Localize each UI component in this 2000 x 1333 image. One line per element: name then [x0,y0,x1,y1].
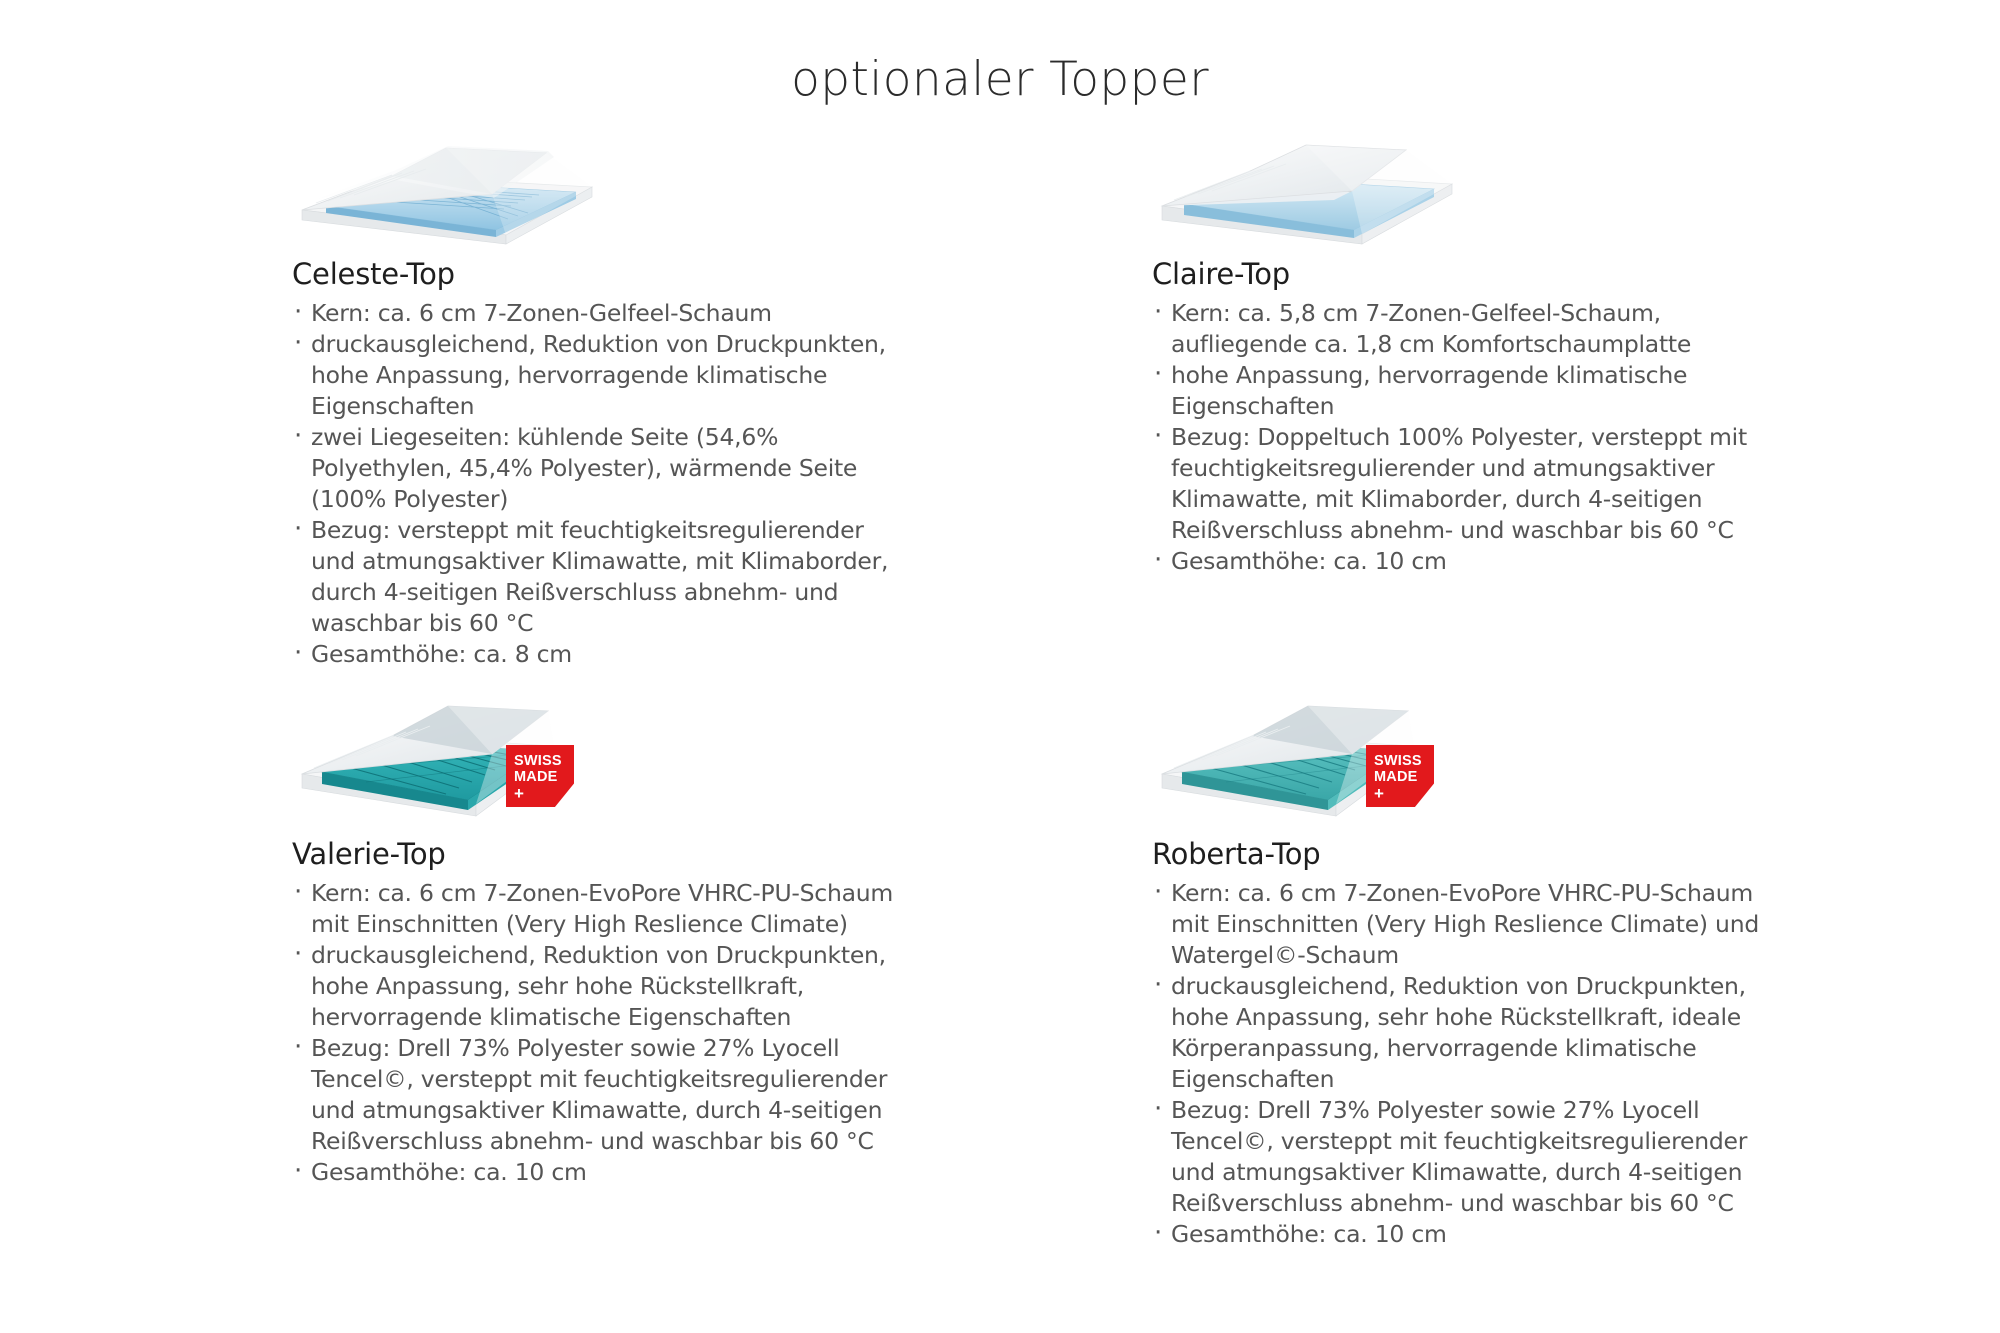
spec-item: Kern: ca. 6 cm 7-Zonen-Gelfeel-Schaum [292,298,912,329]
product-spec-list: Kern: ca. 6 cm 7-Zonen-EvoPore VHRC-PU-S… [292,878,912,1188]
swiss-badge-line1: SWISS [514,754,574,770]
product-title: Valerie-Top [292,837,912,871]
swiss-badge-line2: MADE [1374,770,1434,786]
product-title: Claire-Top [1152,257,1772,291]
spec-item: Kern: ca. 6 cm 7-Zonen-EvoPore VHRC-PU-S… [1152,878,1772,971]
product-card: Celeste-Top Kern: ca. 6 cm 7-Zonen-Gelfe… [292,140,912,670]
swiss-badge-line1: SWISS [1374,754,1434,770]
page-title: optionaler Topper [0,52,2000,107]
product-title: Roberta-Top [1152,837,1772,871]
product-image-celeste-top [296,140,596,245]
spec-item: Bezug: Drell 73% Polyester sowie 27% Lyo… [292,1033,912,1157]
spec-item: hohe Anpassung, hervorragende klimatisch… [1152,360,1772,422]
product-spec-list: Kern: ca. 6 cm 7-Zonen-EvoPore VHRC-PU-S… [1152,878,1772,1250]
product-title: Celeste-Top [292,257,912,291]
spec-item: Gesamthöhe: ca. 10 cm [292,1157,912,1188]
product-card: SWISS MADE + Valerie-Top Kern: ca. 6 cm … [292,700,912,1188]
product-image-claire-top [1156,140,1456,245]
product-spec-list: Kern: ca. 6 cm 7-Zonen-Gelfeel-Schaum dr… [292,298,912,670]
spec-item: Bezug: Doppeltuch 100% Polyester, verste… [1152,422,1772,546]
catalog-page: optionaler Topper [0,0,2000,1333]
product-card: SWISS MADE + Roberta-Top Kern: ca. 6 cm … [1152,700,1772,1250]
spec-item: zwei Liegeseiten: kühlende Seite (54,6% … [292,422,912,515]
product-card: Claire-Top Kern: ca. 5,8 cm 7-Zonen-Gelf… [1152,140,1772,577]
spec-item: Gesamthöhe: ca. 10 cm [1152,546,1772,577]
spec-item: Bezug: Drell 73% Polyester sowie 27% Lyo… [1152,1095,1772,1219]
swiss-badge-line2: MADE [514,770,574,786]
product-image-roberta-top: SWISS MADE + [1156,700,1456,825]
spec-item: Bezug: versteppt mit feuchtigkeitsreguli… [292,515,912,639]
product-spec-list: Kern: ca. 5,8 cm 7-Zonen-Gelfeel-Schaum,… [1152,298,1772,577]
spec-item: druckausgleichend, Reduktion von Druckpu… [292,940,912,1033]
spec-item: druckausgleichend, Reduktion von Druckpu… [292,329,912,422]
spec-item: druckausgleichend, Reduktion von Druckpu… [1152,971,1772,1095]
product-image-valerie-top: SWISS MADE + [296,700,596,825]
spec-item: Gesamthöhe: ca. 10 cm [1152,1219,1772,1250]
spec-item: Kern: ca. 5,8 cm 7-Zonen-Gelfeel-Schaum,… [1152,298,1772,360]
mattress-topper-illustration [296,140,596,245]
mattress-topper-illustration [1156,140,1456,245]
spec-item: Kern: ca. 6 cm 7-Zonen-EvoPore VHRC-PU-S… [292,878,912,940]
spec-item: Gesamthöhe: ca. 8 cm [292,639,912,670]
